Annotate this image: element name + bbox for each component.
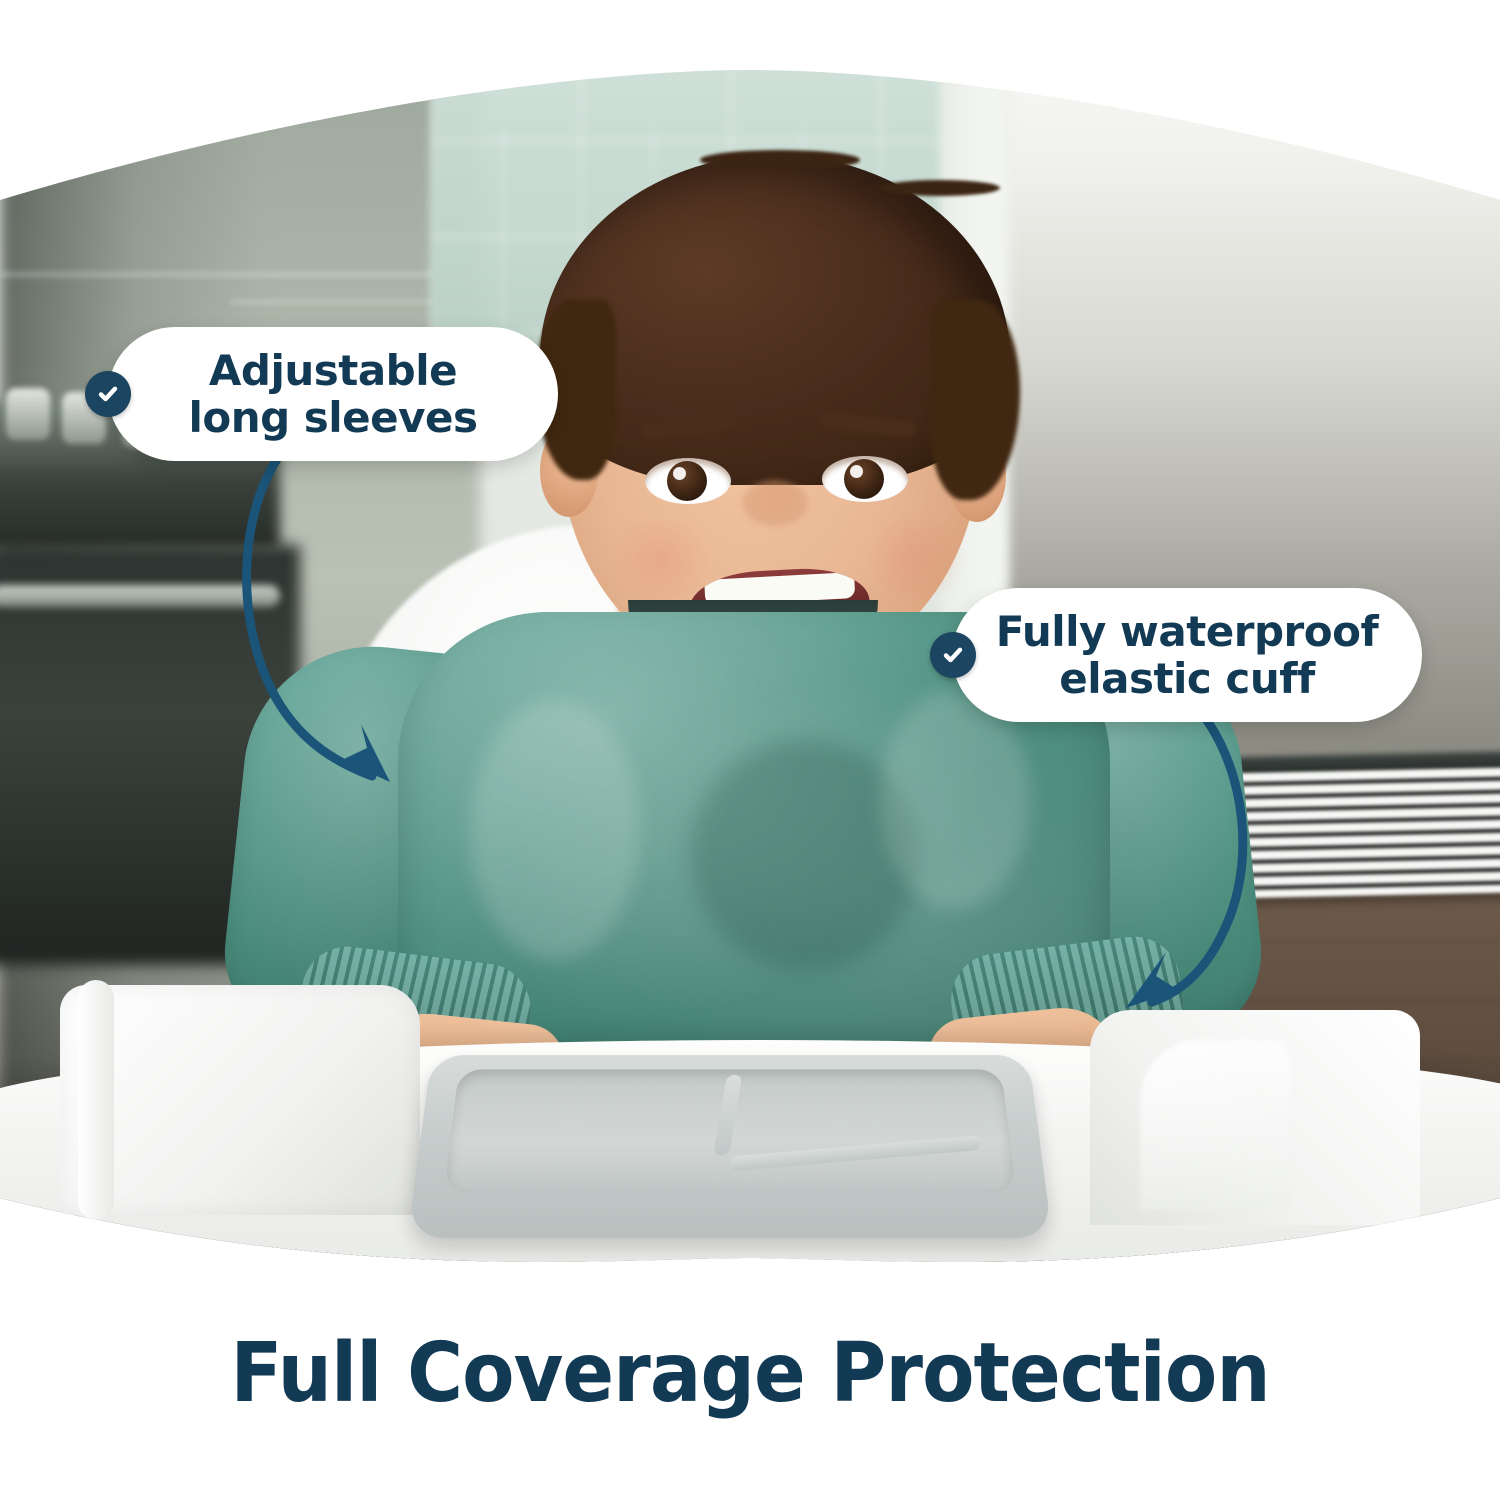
child-hair-wisp	[700, 150, 860, 170]
callout-label: Adjustable long sleeves	[154, 347, 511, 441]
oven-handle	[0, 585, 280, 607]
child-iris	[844, 459, 884, 499]
child-nose	[742, 480, 808, 526]
check-circle-icon	[85, 371, 131, 417]
high-chair-tray-lip	[78, 980, 114, 1220]
callout-label: Fully waterproof elastic cuff	[962, 608, 1412, 702]
child-eye-right	[822, 456, 908, 502]
bib-fabric-highlight	[880, 690, 1030, 910]
divided-silicone-plate	[408, 1055, 1053, 1238]
cabinet-seam	[0, 272, 470, 277]
child-eye-left	[645, 458, 731, 504]
product-feature-graphic: Adjustable long sleeves Fully waterproof…	[0, 0, 1500, 1500]
tray-highlight	[1140, 1040, 1290, 1210]
high-chair-tray-left-edge	[60, 985, 420, 1215]
eye-highlight	[673, 467, 686, 480]
bib-fabric-highlight	[470, 700, 640, 960]
child-hair-wisp	[880, 180, 1000, 196]
check-circle-icon	[930, 632, 976, 678]
stove-knob	[6, 388, 50, 440]
callout-adjustable-long-sleeves[interactable]: Adjustable long sleeves	[108, 327, 558, 461]
child-cheek-right	[855, 518, 975, 598]
callout-fully-waterproof-elastic-cuff[interactable]: Fully waterproof elastic cuff	[952, 588, 1422, 722]
eye-highlight	[850, 465, 863, 478]
page-title: Full Coverage Protection	[53, 1326, 1448, 1421]
child-iris	[667, 461, 707, 501]
